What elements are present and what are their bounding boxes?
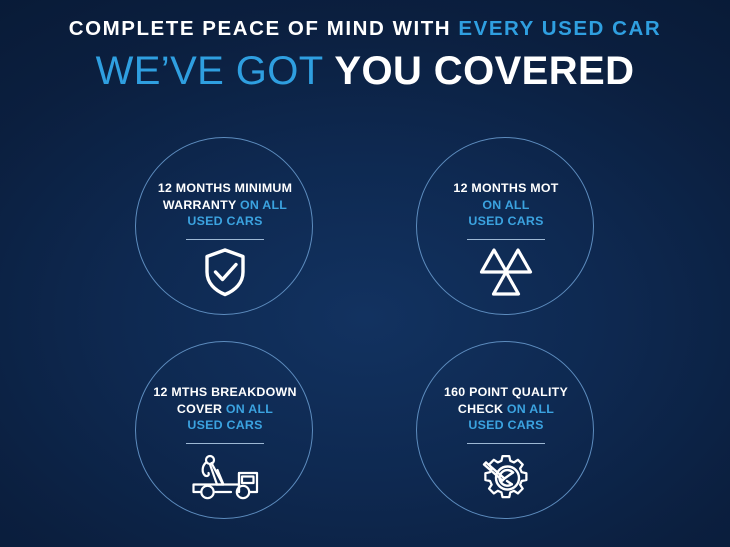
badge-quality-check-line-2-white: CHECK [458, 402, 507, 416]
headline-line-2-strong: YOU COVERED [334, 49, 634, 93]
badge-mot-content: 12 MONTHS MOT ON ALL USED CARS [403, 138, 609, 316]
badge-quality-check-text: 160 POINT QUALITY CHECK ON ALL USED CARS [444, 384, 568, 434]
badge-warranty-line-2-white: WARRANTY [163, 198, 240, 212]
badge-breakdown-cover-line-2-white: COVER [177, 402, 226, 416]
badge-breakdown-cover-divider [186, 443, 264, 444]
badge-quality-check-line-3: USED CARS [444, 417, 568, 434]
promo-banner: COMPLETE PEACE OF MIND WITH EVERY USED C… [0, 0, 730, 547]
badge-warranty-line-2-accent: ON ALL [240, 198, 287, 212]
headline-line-1-accent: EVERY USED CAR [458, 17, 661, 40]
badge-warranty-line-2: WARRANTY ON ALL [158, 197, 292, 214]
headline-block: COMPLETE PEACE OF MIND WITH EVERY USED C… [0, 16, 730, 93]
headline-line-1-white: COMPLETE PEACE OF MIND WITH [69, 17, 459, 40]
badge-mot-divider [467, 239, 545, 240]
headline-line-2-light: WE’VE GOT [96, 49, 335, 93]
badge-quality-check-divider [467, 443, 545, 444]
badge-quality-check-line-2: CHECK ON ALL [444, 401, 568, 418]
shield-check-icon [202, 247, 248, 297]
badge-quality-check[interactable]: 160 POINT QUALITY CHECK ON ALL USED CARS [416, 341, 594, 519]
badge-grid: 12 MONTHS MINIMUM WARRANTY ON ALL USED C… [0, 133, 730, 547]
mot-triangles-icon [479, 247, 533, 297]
badge-breakdown-cover[interactable]: 12 MTHS BREAKDOWN COVER ON ALL USED CARS [135, 341, 313, 519]
headline-line-1: COMPLETE PEACE OF MIND WITH EVERY USED C… [0, 16, 730, 42]
headline-line-2: WE’VE GOT YOU COVERED [0, 49, 730, 93]
badge-warranty-content: 12 MONTHS MINIMUM WARRANTY ON ALL USED C… [122, 138, 328, 316]
badge-breakdown-cover-content: 12 MTHS BREAKDOWN COVER ON ALL USED CARS [122, 342, 328, 520]
tow-truck-icon [187, 451, 263, 501]
badge-warranty[interactable]: 12 MONTHS MINIMUM WARRANTY ON ALL USED C… [135, 137, 313, 315]
badge-breakdown-cover-line-1: 12 MTHS BREAKDOWN [153, 384, 296, 401]
badge-warranty-line-1: 12 MONTHS MINIMUM [158, 180, 292, 197]
badge-quality-check-content: 160 POINT QUALITY CHECK ON ALL USED CARS [403, 342, 609, 520]
badge-mot-line-3: USED CARS [453, 213, 558, 230]
badge-breakdown-cover-text: 12 MTHS BREAKDOWN COVER ON ALL USED CARS [153, 384, 296, 434]
badge-breakdown-cover-line-3: USED CARS [153, 417, 296, 434]
gear-wrench-icon [477, 451, 535, 505]
badge-breakdown-cover-line-2-accent: ON ALL [226, 402, 273, 416]
badge-warranty-line-3: USED CARS [158, 213, 292, 230]
badge-mot-line-1: 12 MONTHS MOT [453, 180, 558, 197]
badge-mot-text: 12 MONTHS MOT ON ALL USED CARS [453, 180, 558, 230]
badge-warranty-text: 12 MONTHS MINIMUM WARRANTY ON ALL USED C… [158, 180, 292, 230]
badge-warranty-divider [186, 239, 264, 240]
badge-mot[interactable]: 12 MONTHS MOT ON ALL USED CARS [416, 137, 594, 315]
badge-quality-check-line-2-accent: ON ALL [507, 402, 554, 416]
badge-breakdown-cover-line-2: COVER ON ALL [153, 401, 296, 418]
badge-quality-check-line-1: 160 POINT QUALITY [444, 384, 568, 401]
badge-mot-line-2: ON ALL [453, 197, 558, 214]
